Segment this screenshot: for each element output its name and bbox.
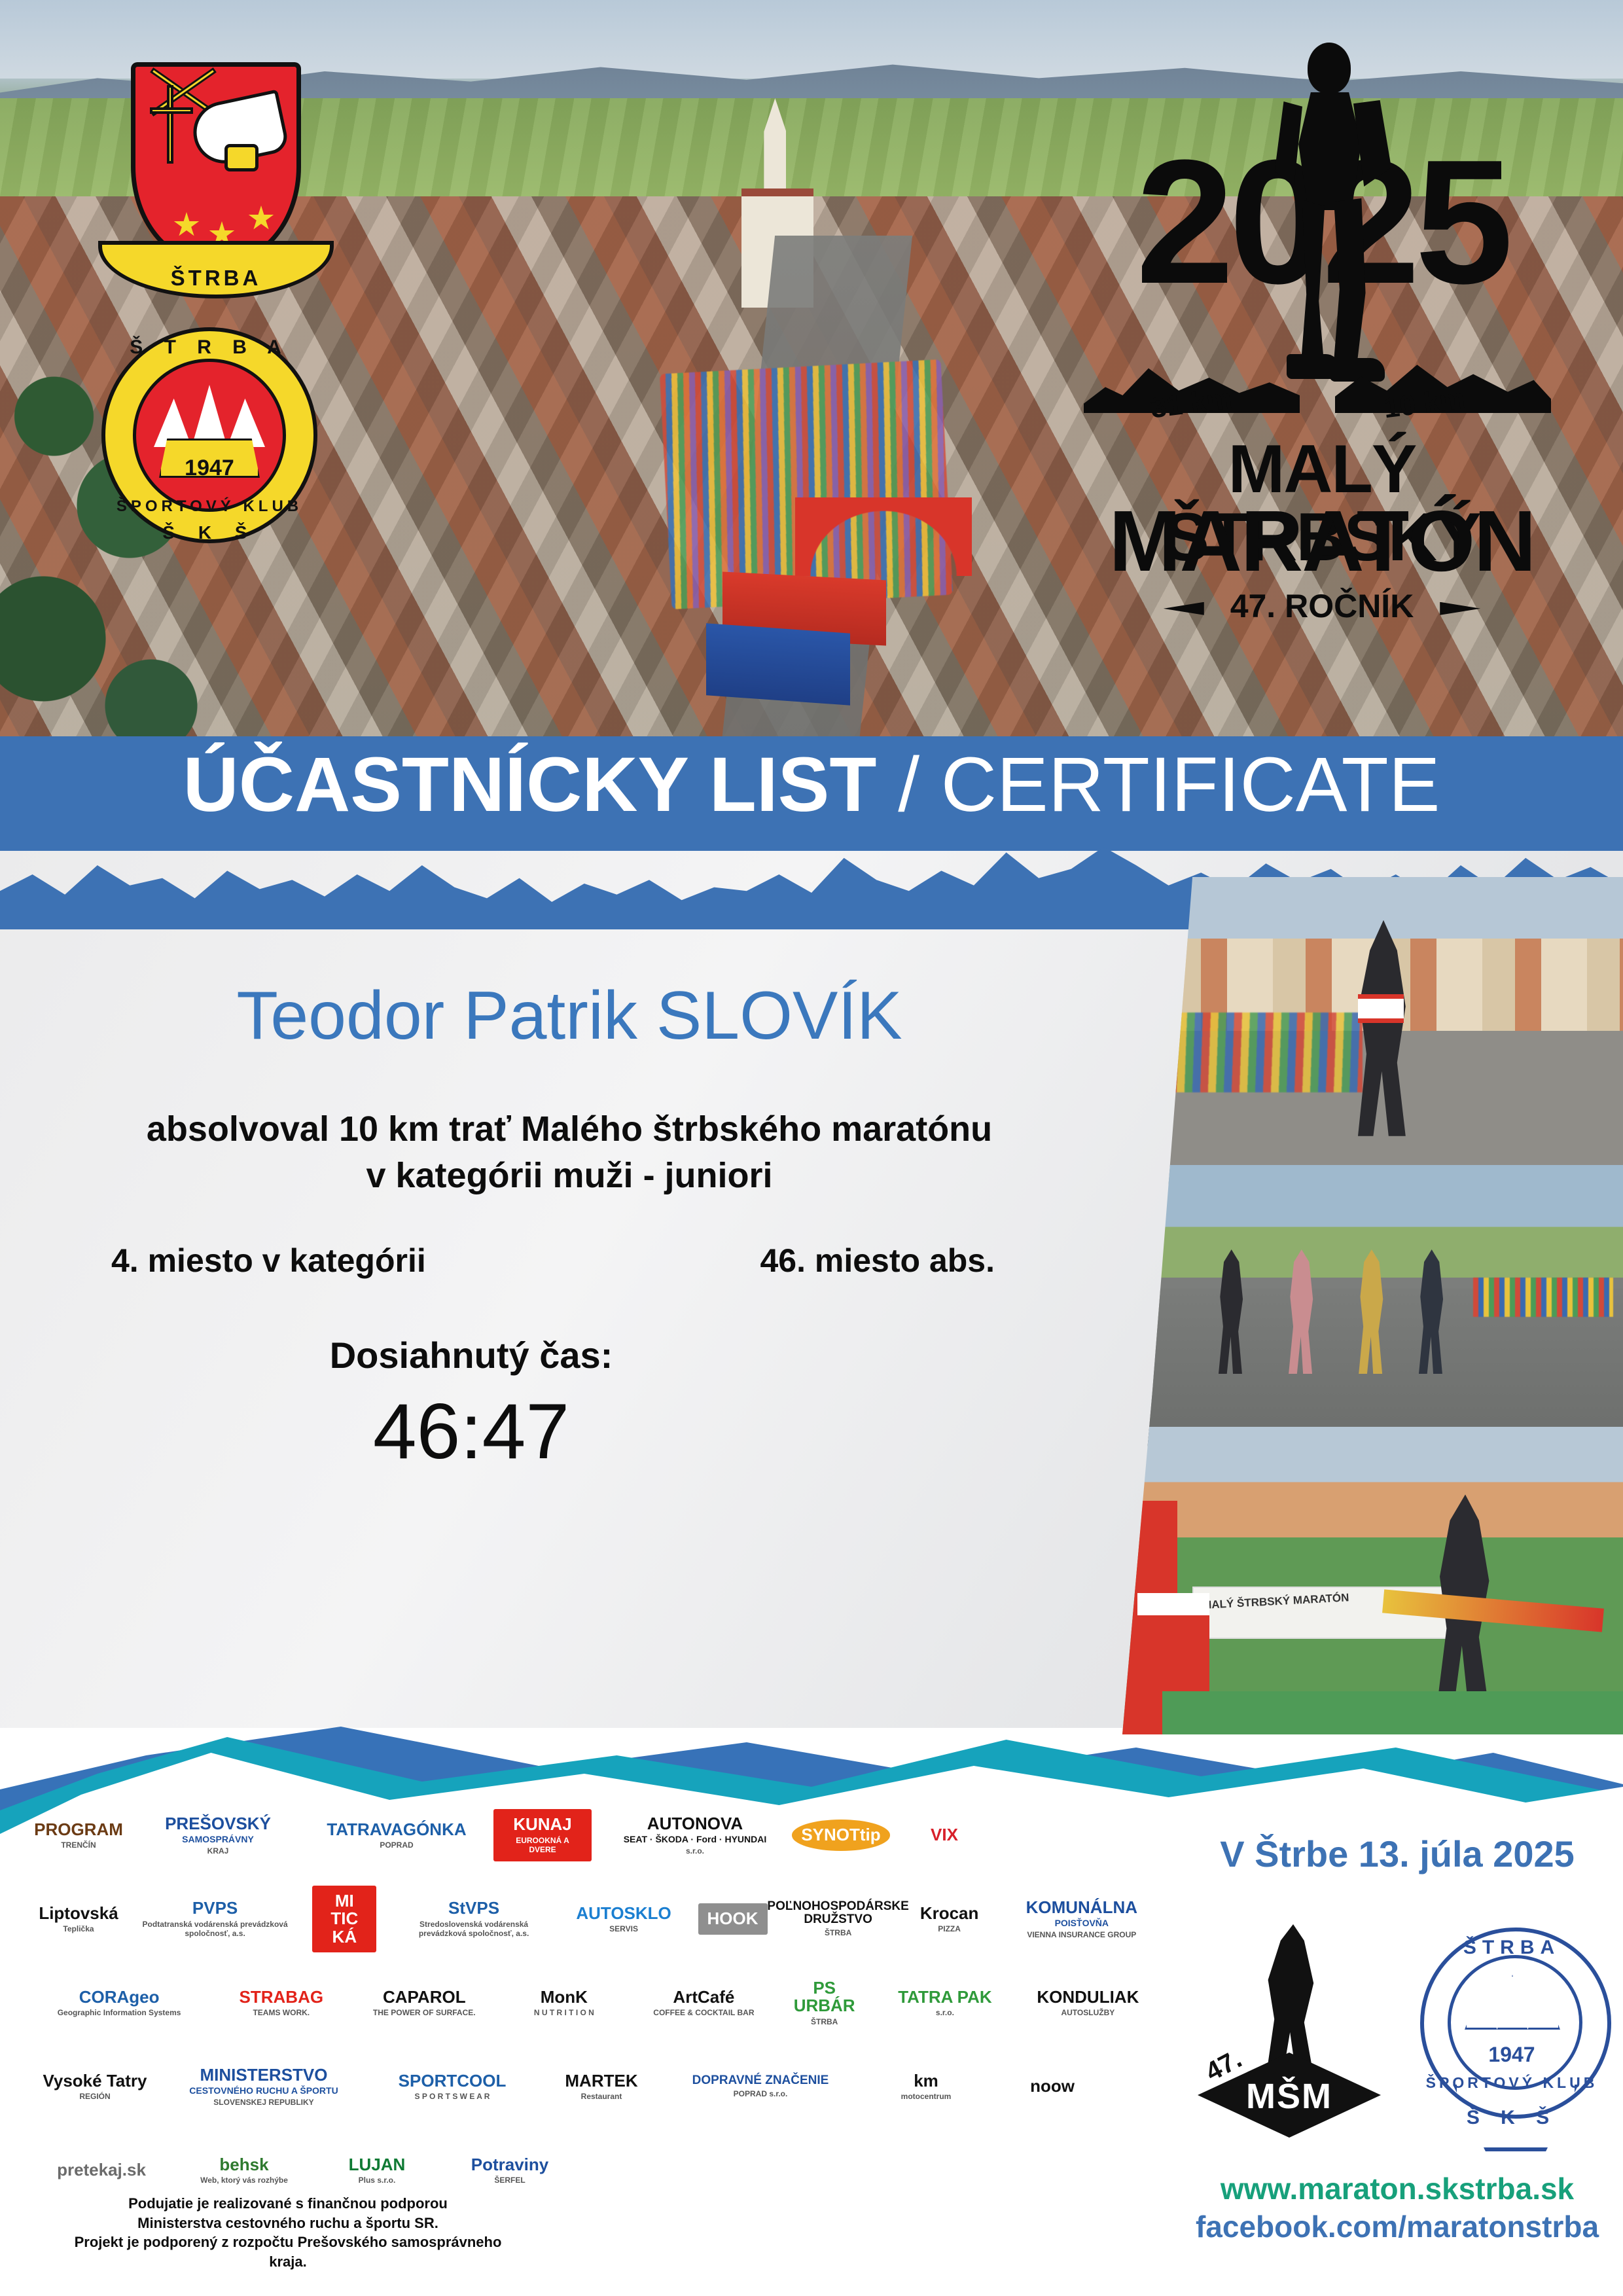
stamp-year: 1947 [1414, 2044, 1610, 2065]
place-absolute: 46. miesto abs. [760, 1244, 995, 1277]
sponsor-tagline: S P O R T S W E A R [415, 2092, 490, 2101]
certificate-page: ŠTRBA Š T R B A 1947 ŠPORTOVÝ KLUB Š K Š… [0, 0, 1623, 2296]
sponsor-logo: KrocanPIZZA [906, 1905, 993, 1934]
sponsor-logo: kmmotocentrum [864, 2072, 988, 2102]
sponsor-tagline: EUROOKNÁ A DVERE [503, 1836, 582, 1855]
page-title: ÚČASTNÍCKY LIST / CERTIFICATE [0, 746, 1623, 823]
sponsor-logo: DOPRAVNÉ ZNAČENIEPOPRAD s.r.o. [675, 2074, 846, 2098]
sponsor-logo: CORAgeoGeographic Information Systems [39, 1988, 199, 2018]
photo-collage: MALÝ ŠTRBSKÝ MARATÓN [1122, 877, 1623, 1734]
club-mid-label: ŠPORTOVÝ KLUB [101, 499, 317, 514]
sponsor-tagline: Stredoslovenská vodárenská prevádzková s… [395, 1920, 552, 1939]
club-year: 1947 [101, 457, 317, 479]
bib-number-181 [1358, 994, 1404, 1023]
sponsor-subtitle: POISŤOVŇA [1055, 1918, 1109, 1928]
event-name-line2: MARATÓN [1073, 498, 1571, 584]
certificate-text: Teodor Patrik SLOVÍK absolvoval 10 km tr… [39, 982, 1099, 1471]
time-value: 46:47 [39, 1392, 1099, 1471]
sponsor-tagline: s.r.o. [686, 1846, 704, 1856]
sks-club-emblem: Š T R B A 1947 ŠPORTOVÝ KLUB Š K Š [101, 327, 317, 589]
sponsor-name: noow [1030, 2077, 1075, 2095]
msm-mark: MŠM [1198, 2079, 1381, 2114]
sponsor-name: TATRAVAGÓNKA [327, 1821, 466, 1839]
sponsor-logo: MARTEKRestaurant [546, 2072, 657, 2102]
sponsor-name: MonK [541, 1988, 588, 2006]
description-line-1: absolvoval 10 km trať Malého štrbského m… [39, 1106, 1099, 1153]
website-link[interactable]: www.maraton.skstrba.sk [1171, 2170, 1623, 2208]
sponsor-name: Liptovská [39, 1905, 118, 1922]
sponsor-logo: POĽNOHOSPODÁRSKE DRUŽSTVOŠTRBA [789, 1900, 887, 1937]
sponsor-name: POĽNOHOSPODÁRSKE DRUŽSTVO [767, 1900, 908, 1926]
municipality-name: ŠTRBA [92, 267, 340, 289]
sponsor-logo: LUJANPlus s.r.o. [325, 2156, 429, 2185]
sponsor-row: CORAgeoGeographic Information SystemsSTR… [39, 1961, 1152, 2045]
stamp-bottom-label: Š K Š [1414, 2108, 1610, 2128]
sponsor-logo: PVPSPodtatranská vodárenská prevádzková … [136, 1899, 294, 1938]
club-bottom-label: Š K Š [101, 524, 317, 542]
place-in-category: 4. miesto v kategórii [111, 1244, 426, 1277]
sponsor-name: StVPS [448, 1899, 499, 1917]
sponsor-logo: Vysoké TatryREGIÓN [39, 2072, 151, 2102]
photo-female-finisher [1122, 877, 1623, 1185]
sponsor-name: AUTOSKLO [576, 1905, 671, 1922]
sponsor-tagline: Restaurant [581, 2092, 622, 2101]
sponsor-name: DOPRAVNÉ ZNAČENIE [692, 2074, 829, 2087]
sponsor-logo: MonKN U T R I T I O N [503, 1988, 625, 2018]
sponsor-tagline: ŠTRBA [811, 2017, 838, 2026]
sponsor-tagline: Web, ktorý vás rozhýbe [200, 2176, 288, 2185]
sponsor-name: Vysoké Tatry [43, 2072, 147, 2090]
sponsor-name: STRABAG [240, 1988, 324, 2006]
sponsor-tagline: s.r.o. [936, 2008, 954, 2017]
club-top-label: Š T R B A [101, 338, 317, 357]
strba-coat-of-arms: ŠTRBA [92, 62, 340, 331]
sponsor-logo: AUTOSKLOSERVIS [571, 1905, 677, 1934]
footer-right: V Štrbe 13. júla 2025 MŠM 47. ŠTRBA 1947… [1171, 1806, 1623, 2265]
sponsor-tagline: VIENNA INSURANCE GROUP [1027, 1930, 1136, 1939]
sponsor-grid: PROGRAMTRENČÍNPREŠOVSKÝSAMOSPRÁVNYKRAJTA… [39, 1793, 1152, 2212]
sponsor-row: Vysoké TatryREGIÓNMINISTERSTVOCESTOVNÉHO… [39, 2045, 1152, 2128]
disclaimer-line-2: Ministerstva cestovného ruchu a športu S… [59, 2214, 517, 2233]
sponsor-tagline: Teplička [63, 1924, 94, 1933]
runner-silhouette-icon [1270, 36, 1394, 389]
sponsor-logo: CAPAROLTHE POWER OF SURFACE. [363, 1988, 485, 2018]
description-line-2: v kategórii muži - juniori [39, 1153, 1099, 1199]
distance-10km: 10 km [1382, 385, 1467, 423]
sponsor-subtitle: CESTOVNÉHO RUCHU A ŠPORTU [189, 2085, 338, 2096]
sponsor-logo: TATRAVAGÓNKAPOPRAD [318, 1821, 475, 1850]
sponsor-name: CAPAROL [383, 1988, 466, 2006]
sponsor-logo: SYNOTtip [798, 1820, 883, 1850]
placement-row: 4. miesto v kategórii 46. miesto abs. [39, 1244, 1099, 1290]
sponsor-tagline: PIZZA [938, 1924, 961, 1933]
sponsor-wall: PROGRAMTRENČÍNPREŠOVSKÝSAMOSPRÁVNYKRAJTA… [0, 1793, 1165, 2251]
stamp-top-label: ŠTRBA [1414, 1938, 1610, 1958]
sponsor-tagline: REGIÓN [79, 2092, 110, 2101]
sponsor-logo: MI TIC KÁ [312, 1886, 376, 1952]
sponsor-logo: StVPSStredoslovenská vodárenská prevádzk… [395, 1899, 552, 1938]
sponsor-tagline: POPRAD [380, 1840, 413, 1850]
msm-logo: MŠM 47. [1198, 1924, 1381, 2140]
sponsor-logo: MINISTERSTVOCESTOVNÉHO RUCHU A ŠPORTUSLO… [169, 2066, 359, 2108]
sponsor-name: pretekaj.sk [57, 2161, 146, 2179]
event-edition-row: 47. ROČNÍK [1073, 590, 1571, 622]
sponsor-logo: behskWeb, ktorý vás rozhýbe [182, 2156, 306, 2185]
sponsor-name: PS URBÁR [783, 1979, 866, 2015]
arrow-left-icon [1164, 602, 1204, 615]
sponsor-logo: PotravinyŠERFEL [448, 2156, 572, 2185]
participant-name: Teodor Patrik SLOVÍK [39, 982, 1099, 1050]
sponsor-name: VIX [931, 1826, 958, 1844]
sponsor-tagline: TRENČÍN [61, 1840, 96, 1850]
sponsor-logo: KONDULIAKAUTOSLUŽBY [1024, 1988, 1152, 2018]
event-edition: 47. ROČNÍK [1213, 590, 1431, 622]
sponsor-subtitle: SAMOSPRÁVNY [182, 1834, 254, 1844]
sponsor-tagline: POPRAD s.r.o. [734, 2089, 788, 2098]
sponsor-tagline: SERVIS [609, 1924, 638, 1933]
photo-male-finisher: MALÝ ŠTRBSKÝ MARATÓN [1122, 1427, 1623, 1734]
sponsor-logo: AUTONOVASEAT · ŠKODA · Ford · HYUNDAIs.r… [610, 1815, 780, 1856]
sponsor-name: km [914, 2072, 938, 2090]
disclaimer-line-3: Projekt je podporený z rozpočtu Prešovsk… [59, 2233, 517, 2271]
time-label: Dosiahnutý čas: [39, 1337, 1099, 1374]
sponsor-name: MARTEK [565, 2072, 637, 2090]
sponsor-logo: ArtCaféCOFFEE & COCKTAIL BAR [643, 1988, 765, 2018]
event-date: V Štrbe 13. júla 2025 [1171, 1836, 1623, 1873]
title-rest: / CERTIFICATE [876, 742, 1440, 828]
sponsor-tagline: Geographic Information Systems [58, 2008, 181, 2017]
sponsor-logo: PREŠOVSKÝSAMOSPRÁVNYKRAJ [136, 1815, 300, 1856]
sponsor-tagline: ŠTRBA [825, 1928, 851, 1937]
sponsor-logo: TATRA PAKs.r.o. [884, 1988, 1006, 2018]
sponsor-name: PROGRAM [34, 1821, 123, 1839]
disclaimer-line-1: Podujatie je realizované s finančnou pod… [59, 2194, 517, 2214]
sponsor-name: CORAgeo [79, 1988, 160, 2006]
sponsor-name: behsk [219, 2156, 268, 2174]
sponsor-tagline: TEAMS WORK. [253, 2008, 310, 2017]
sponsor-name: LUJAN [349, 2156, 406, 2174]
sponsor-logo: LiptovskáTeplička [39, 1905, 118, 1934]
sponsor-logo: SPORTCOOLS P O R T S W E A R [377, 2072, 527, 2102]
certificate-description: absolvoval 10 km trať Malého štrbského m… [39, 1106, 1099, 1200]
sponsor-logo: KUNAJEUROOKNÁ A DVERE [493, 1809, 592, 1861]
sponsor-logo: PROGRAMTRENČÍN [39, 1821, 118, 1850]
club-stamp: ŠTRBA 1947 ŠPORTOVÝ KLUB Š K Š [1414, 1921, 1610, 2144]
sponsor-name: MI TIC KÁ [321, 1892, 367, 1946]
sponsor-row: PROGRAMTRENČÍNPREŠOVSKÝSAMOSPRÁVNYKRAJTA… [39, 1793, 1152, 1877]
sponsor-name: AUTONOVA [647, 1815, 743, 1833]
sponsor-name: KUNAJ [513, 1816, 572, 1833]
sponsor-name: TATRA PAK [898, 1988, 991, 2006]
title-bold: ÚČASTNÍCKY LIST [183, 742, 877, 828]
sponsor-tagline: Podtatranská vodárenská prevádzková spol… [136, 1920, 294, 1939]
sponsor-name: ArtCafé [673, 1988, 734, 2006]
sponsor-tagline: motocentrum [901, 2092, 952, 2101]
start-arch [795, 497, 972, 576]
sponsor-tagline: THE POWER OF SURFACE. [373, 2008, 476, 2017]
sponsor-row: LiptovskáTepličkaPVPSPodtatranská vodáre… [39, 1877, 1152, 1961]
footer-links: www.maraton.skstrba.sk facebook.com/mara… [1171, 2170, 1623, 2246]
sponsor-tagline: COFFEE & COCKTAIL BAR [653, 2008, 754, 2017]
sponsor-tagline: N U T R I T I O N [534, 2008, 594, 2017]
sponsor-logo: KOMUNÁLNAPOISŤOVŇAVIENNA INSURANCE GROUP [1012, 1899, 1152, 1940]
sponsor-name: PVPS [192, 1899, 238, 1917]
sponsor-logo: PS URBÁRŠTRBA [783, 1979, 866, 2026]
sponsor-logo: HOOK [694, 1903, 770, 1934]
sponsor-name: Krocan [920, 1905, 979, 1922]
sponsor-logo: VIX [902, 1826, 987, 1844]
sponsor-name: HOOK [707, 1910, 758, 1928]
facebook-link[interactable]: facebook.com/maratonstrba [1171, 2208, 1623, 2246]
sponsor-tagline: AUTOSLUŽBY [1061, 2008, 1115, 2017]
ribbon: ŠTRBA [92, 229, 340, 321]
sponsor-name: MINISTERSTVO [200, 2066, 327, 2084]
sponsor-name: SYNOTtip [801, 1826, 880, 1844]
sponsor-name: SPORTCOOL [399, 2072, 507, 2090]
event-logo: 2025 31 km 10 km MALÝ ŠTRBSKÝ MARATÓN 47… [1073, 36, 1571, 619]
sponsor-logo: pretekaj.sk [39, 2161, 164, 2179]
sponsor-tagline: SLOVENSKEJ REPUBLIKY [213, 2098, 313, 2107]
sponsor-logo: noow [1007, 2077, 1098, 2095]
sponsor-name: PREŠOVSKÝ [165, 1815, 271, 1833]
sponsor-name: Potraviny [471, 2156, 549, 2174]
sponsor-subtitle: SEAT · ŠKODA · Ford · HYUNDAI [624, 1834, 767, 1844]
sponsor-logo: STRABAGTEAMS WORK. [217, 1988, 345, 2018]
funding-disclaimer: Podujatie je realizované s finančnou pod… [59, 2194, 517, 2272]
photo-runners-hill [1122, 1165, 1623, 1446]
sponsor-tagline: KRAJ [207, 1846, 229, 1856]
stamp-mid-label: ŠPORTOVÝ KLUB [1414, 2075, 1610, 2090]
arrow-right-icon [1440, 602, 1480, 615]
sponsor-tagline: Plus s.r.o. [359, 2176, 396, 2185]
sponsor-tagline: ŠERFEL [494, 2176, 525, 2185]
sponsor-name: KOMUNÁLNA [1026, 1899, 1137, 1916]
distance-31km: 31 km [1149, 385, 1234, 423]
sponsor-name: KONDULIAK [1037, 1988, 1139, 2006]
blue-tent [706, 623, 850, 705]
